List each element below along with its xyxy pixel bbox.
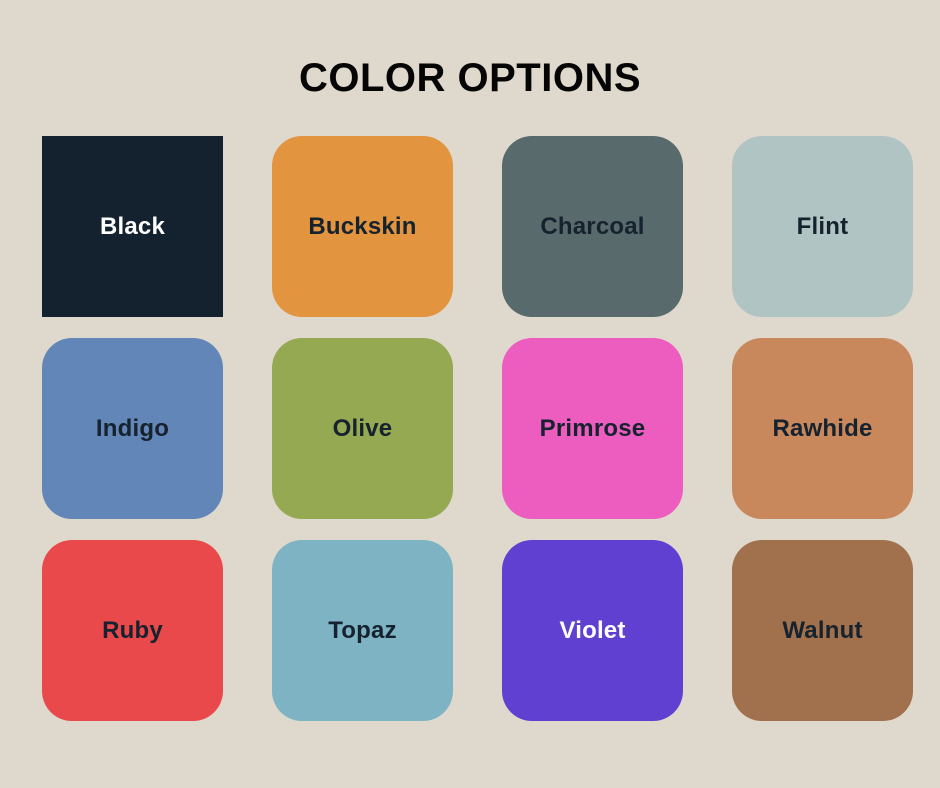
color-swatch-buckskin[interactable]: Buckskin xyxy=(272,136,453,317)
color-swatch-label: Rawhide xyxy=(772,415,872,443)
color-swatch-topaz[interactable]: Topaz xyxy=(272,540,453,721)
color-swatch-label: Topaz xyxy=(328,617,397,645)
color-swatch-label: Flint xyxy=(797,213,849,241)
color-swatch-label: Ruby xyxy=(102,617,163,645)
color-options-poster: COLOR OPTIONS BlackBuckskinCharcoalFlint… xyxy=(0,0,940,788)
color-swatch-rawhide[interactable]: Rawhide xyxy=(732,338,913,519)
color-swatch-label: Charcoal xyxy=(540,213,644,241)
color-swatch-walnut[interactable]: Walnut xyxy=(732,540,913,721)
page-title: COLOR OPTIONS xyxy=(0,52,940,104)
color-swatch-label: Violet xyxy=(559,617,625,645)
color-swatch-label: Primrose xyxy=(540,415,646,443)
color-swatch-violet[interactable]: Violet xyxy=(502,540,683,721)
color-swatch-charcoal[interactable]: Charcoal xyxy=(502,136,683,317)
color-swatch-black[interactable]: Black xyxy=(42,136,223,317)
color-swatch-indigo[interactable]: Indigo xyxy=(42,338,223,519)
color-swatch-label: Olive xyxy=(333,415,393,443)
color-swatch-ruby[interactable]: Ruby xyxy=(42,540,223,721)
color-swatch-label: Walnut xyxy=(782,617,862,645)
color-swatch-olive[interactable]: Olive xyxy=(272,338,453,519)
color-swatch-grid: BlackBuckskinCharcoalFlintIndigoOlivePri… xyxy=(42,136,912,722)
color-swatch-label: Indigo xyxy=(96,415,169,443)
color-swatch-primrose[interactable]: Primrose xyxy=(502,338,683,519)
color-swatch-label: Black xyxy=(100,213,165,241)
color-swatch-flint[interactable]: Flint xyxy=(732,136,913,317)
color-swatch-label: Buckskin xyxy=(308,213,416,241)
